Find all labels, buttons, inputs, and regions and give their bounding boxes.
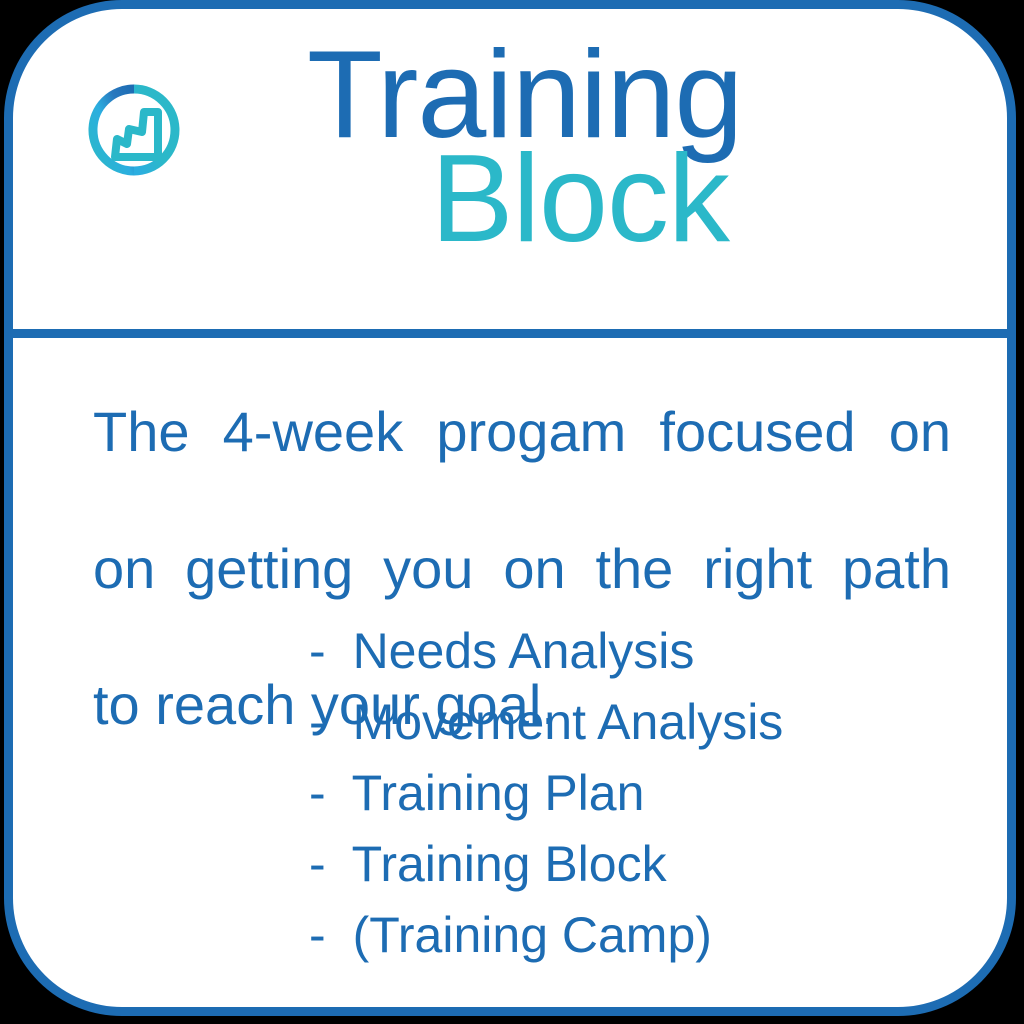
- bullet-dash: -: [309, 765, 326, 821]
- bullet-dash: -: [309, 907, 326, 963]
- feature-list: - Needs Analysis - Movement Analysis - T…: [309, 626, 783, 981]
- description-line-1: The 4-week progam focused on: [93, 398, 951, 535]
- list-item: - Needs Analysis: [309, 626, 783, 676]
- list-item: - Movement Analysis: [309, 697, 783, 747]
- list-item-label: (Training Camp): [353, 907, 712, 963]
- list-item-label: Training Block: [352, 836, 667, 892]
- list-item: - (Training Camp): [309, 910, 783, 960]
- list-item-label: Movement Analysis: [353, 694, 784, 750]
- bullet-dash: -: [309, 836, 326, 892]
- card-header: Training Block: [13, 9, 1007, 338]
- page-title: Training Block: [263, 43, 783, 251]
- circular-progress-chart-logo-icon: [85, 81, 183, 179]
- card-body: The 4-week progam focused on on getting …: [13, 338, 1007, 1007]
- list-item-label: Needs Analysis: [353, 623, 695, 679]
- bullet-dash: -: [309, 694, 326, 750]
- list-item: - Training Block: [309, 839, 783, 889]
- training-block-card: Training Block The 4-week progam focused…: [4, 0, 1016, 1016]
- list-item-label: Training Plan: [352, 765, 645, 821]
- list-item: - Training Plan: [309, 768, 783, 818]
- bullet-dash: -: [309, 623, 326, 679]
